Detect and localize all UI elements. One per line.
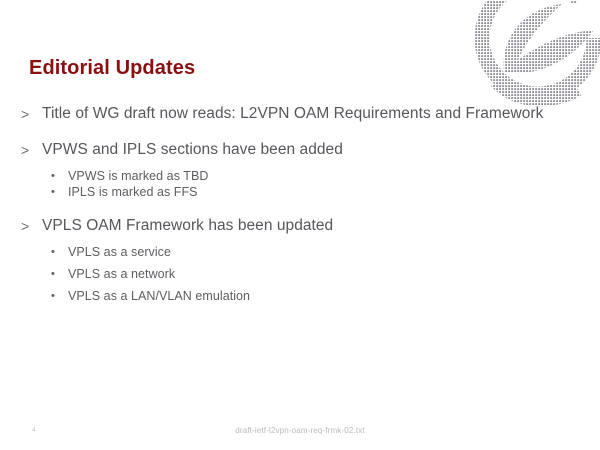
sub-bullet-text: IPLS is marked as FFS bbox=[68, 185, 198, 199]
slide-body: > Title of WG draft now reads: L2VPN OAM… bbox=[0, 104, 600, 304]
sub-bullet-text: VPLS as a LAN/VLAN emulation bbox=[68, 289, 250, 303]
slide-canvas: Editorial Updates > Title of WG draft no… bbox=[0, 0, 600, 450]
sub-bullet: • VPLS as a network bbox=[0, 266, 600, 282]
dot-bullet-icon: • bbox=[51, 266, 55, 282]
sub-bullet-text: VPLS as a network bbox=[68, 267, 175, 281]
dot-bullet-icon: • bbox=[51, 184, 55, 200]
sub-bullet: • VPWS is marked as TBD bbox=[0, 168, 600, 184]
footer-document-name: draft-ietf-l2vpn-oam-req-frmk-02.txt bbox=[0, 426, 600, 435]
chevron-bullet-icon: > bbox=[21, 216, 29, 236]
dot-bullet-icon: • bbox=[51, 288, 55, 304]
halftone-swirl-logo bbox=[466, 0, 600, 114]
bullet-level1: > Title of WG draft now reads: L2VPN OAM… bbox=[0, 104, 600, 124]
dot-bullet-icon: • bbox=[51, 168, 55, 184]
bullet-text: Title of WG draft now reads: L2VPN OAM R… bbox=[42, 105, 543, 122]
sub-bullet: • VPLS as a LAN/VLAN emulation bbox=[0, 288, 600, 304]
bullet-level1: > VPLS OAM Framework has been updated bbox=[0, 216, 600, 236]
sub-bullet-text: VPLS as a service bbox=[68, 245, 171, 259]
dot-bullet-icon: • bbox=[51, 244, 55, 260]
slide-title: Editorial Updates bbox=[29, 57, 195, 80]
chevron-bullet-icon: > bbox=[21, 104, 29, 124]
bullet-text: VPWS and IPLS sections have been added bbox=[42, 141, 343, 158]
sub-bullet: • IPLS is marked as FFS bbox=[0, 184, 600, 200]
bullet-level1: > VPWS and IPLS sections have been added bbox=[0, 140, 600, 160]
sub-bullet: • VPLS as a service bbox=[0, 244, 600, 260]
sub-bullet-text: VPWS is marked as TBD bbox=[68, 169, 208, 183]
bullet-text: VPLS OAM Framework has been updated bbox=[42, 217, 333, 234]
chevron-bullet-icon: > bbox=[21, 140, 29, 160]
